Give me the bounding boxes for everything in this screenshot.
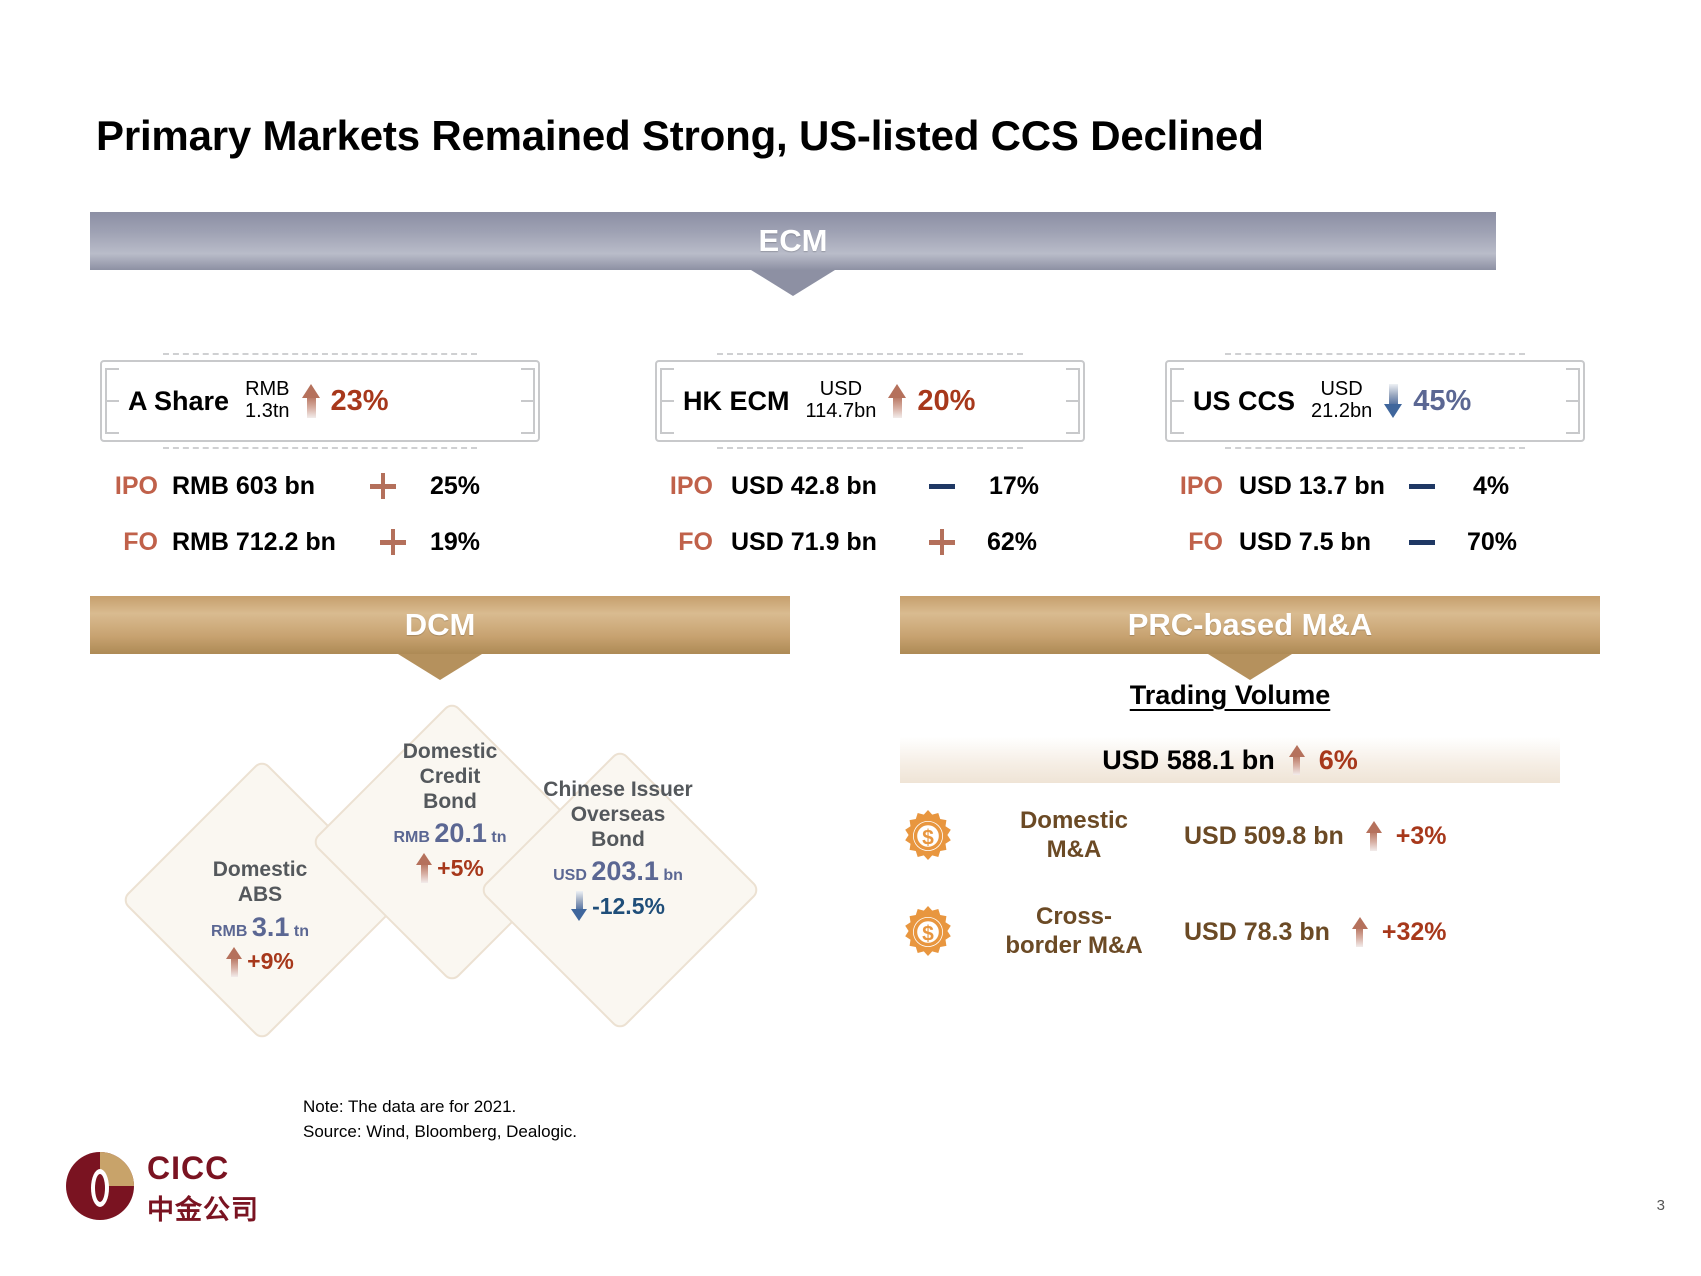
ecm-subrow-value: USD 42.8 bn — [731, 472, 927, 501]
ecm-card-delta: 45% — [1384, 384, 1471, 418]
mna-total-pct: 6% — [1319, 745, 1358, 776]
logo-name-latin: CICC — [147, 1150, 229, 1187]
arrow-down-icon — [1384, 384, 1403, 418]
mna-heading: Trading Volume — [900, 680, 1560, 711]
mna-total-value: USD 588.1 bn — [1102, 745, 1275, 776]
arrow-up-icon — [226, 947, 242, 977]
arrow-up-icon — [416, 853, 432, 883]
arrow-up-icon — [1352, 917, 1368, 947]
page-number: 3 — [1657, 1197, 1665, 1214]
ecm-card-name: HK ECM — [657, 386, 790, 417]
gear-dollar-icon: $ — [900, 808, 956, 864]
ecm-subrow-tag: FO — [655, 528, 713, 557]
card-corner-icon — [105, 368, 119, 402]
ecm-card-delta: 23% — [302, 384, 389, 418]
mna-row-delta: +32% — [1352, 917, 1447, 947]
footnote: Note: The data are for 2021. Source: Win… — [303, 1095, 577, 1144]
ecm-card-name: US CCS — [1167, 386, 1295, 417]
mna-row-pct: +3% — [1396, 822, 1447, 851]
ecm-subrow-pct: 17% — [989, 472, 1039, 501]
banner-notch-icon — [398, 654, 482, 680]
dcm-diamond-pct: +5% — [437, 855, 484, 882]
dcm-diamond-label: Chinese Issuer Overseas Bond — [513, 778, 723, 852]
ecm-card-pct: 45% — [1413, 385, 1471, 418]
ecm-card-name: A Share — [102, 386, 229, 417]
dcm-diamond-domestic-abs-text: Domestic ABS RMB 3.1 tn +9% — [155, 858, 365, 977]
dcm-diamond-delta: +9% — [155, 947, 365, 977]
mna-row-value: USD 509.8 bn — [1184, 822, 1344, 851]
ecm-card-a-share[interactable]: A Share RMB 1.3tn 23% — [100, 360, 540, 442]
dcm-diamond-pct: -12.5% — [592, 893, 665, 920]
card-corner-icon — [521, 368, 535, 402]
section-banner-dcm: DCM — [90, 596, 790, 654]
ecm-subrow-ipo: IPO RMB 603 bn 25% — [100, 458, 540, 514]
svg-text:$: $ — [922, 923, 934, 946]
footnote-source: Source: Wind, Bloomberg, Dealogic. — [303, 1120, 577, 1145]
mna-content: Trading Volume USD 588.1 bn 6% $ Domesti… — [900, 680, 1560, 1000]
ecm-card-delta: 20% — [888, 384, 975, 418]
cicc-logo-mark — [62, 1148, 138, 1224]
mna-row-cross-border[interactable]: $ Cross- border M&A USD 78.3 bn +32% — [900, 889, 1560, 975]
plus-icon — [368, 471, 398, 501]
card-corner-icon — [1170, 368, 1184, 402]
minus-icon — [1407, 527, 1437, 557]
ecm-card-us-ccs[interactable]: US CCS USD 21.2bn 45% — [1165, 360, 1585, 442]
ecm-subrow-pct: 70% — [1467, 528, 1517, 557]
card-corner-icon — [660, 400, 674, 434]
section-banner-prc-mna-label: PRC-based M&A — [1128, 607, 1373, 643]
dcm-diamond-pct: +9% — [247, 948, 294, 975]
arrow-down-icon — [571, 891, 587, 921]
ecm-subrow-fo: FO USD 7.5 bn 70% — [1165, 514, 1585, 570]
mna-row-label: Domestic M&A — [974, 807, 1174, 865]
ecm-card-amount: USD 114.7bn — [806, 379, 877, 422]
card-corner-icon — [1066, 368, 1080, 402]
mna-total-band: USD 588.1 bn 6% — [900, 737, 1560, 783]
banner-notch-icon — [751, 270, 835, 296]
ecm-subrow-tag: IPO — [1165, 472, 1223, 501]
ecm-subrow-pct: 62% — [987, 528, 1037, 557]
minus-icon — [927, 471, 957, 501]
ecm-subrow-value: USD 13.7 bn — [1239, 472, 1407, 501]
ecm-card-hk-ecm[interactable]: HK ECM USD 114.7bn 20% — [655, 360, 1085, 442]
ecm-subrow-ipo: IPO USD 42.8 bn 17% — [655, 458, 1085, 514]
ecm-subrow-value: RMB 712.2 bn — [172, 528, 378, 557]
arrow-up-icon — [1289, 745, 1305, 775]
ecm-subrow-value: USD 7.5 bn — [1239, 528, 1407, 557]
cicc-logo: CICC 中金公司 — [62, 1148, 272, 1228]
banner-notch-icon — [1208, 654, 1292, 680]
ecm-card-group-a-share: A Share RMB 1.3tn 23% IPO RMB 603 bn 25%… — [100, 360, 540, 570]
card-corner-icon — [521, 400, 535, 434]
ecm-subrow-tag: IPO — [655, 472, 713, 501]
dcm-diamond-delta: -12.5% — [513, 891, 723, 921]
card-corner-icon — [105, 400, 119, 434]
card-corner-icon — [1566, 368, 1580, 402]
ecm-card-group-hk-ecm: HK ECM USD 114.7bn 20% IPO USD 42.8 bn 1… — [655, 360, 1085, 570]
section-banner-ecm: ECM — [90, 212, 1496, 270]
ecm-card-amount: RMB 1.3tn — [245, 379, 289, 422]
dcm-diamond-amount: USD 203.1 bn — [513, 856, 723, 887]
dcm-diamond-chinese-issuer-overseas-bond-text: Chinese Issuer Overseas Bond USD 203.1 b… — [513, 778, 723, 921]
mna-row-domestic[interactable]: $ Domestic M&A USD 509.8 bn +3% — [900, 793, 1560, 879]
ecm-card-pct: 23% — [331, 385, 389, 418]
card-corner-icon — [660, 368, 674, 402]
arrow-up-icon — [888, 384, 907, 418]
dcm-diamond-group: Domestic ABS RMB 3.1 tn +9% Domestic Cre… — [130, 690, 770, 1000]
ecm-subrow-tag: FO — [1165, 528, 1223, 557]
mna-row-label: Cross- border M&A — [974, 903, 1174, 961]
dcm-diamond-amount: RMB 3.1 tn — [155, 912, 365, 943]
footnote-note: Note: The data are for 2021. — [303, 1095, 577, 1120]
ecm-subrow-ipo: IPO USD 13.7 bn 4% — [1165, 458, 1585, 514]
page-title: Primary Markets Remained Strong, US-list… — [96, 112, 1264, 160]
arrow-up-icon — [302, 384, 321, 418]
card-corner-icon — [1170, 400, 1184, 434]
section-banner-prc-mna: PRC-based M&A — [900, 596, 1600, 654]
ecm-subrow-value: RMB 603 bn — [172, 472, 368, 501]
arrow-up-icon — [1366, 821, 1382, 851]
ecm-subrow-fo: FO USD 71.9 bn 62% — [655, 514, 1085, 570]
ecm-subrow-tag: FO — [100, 528, 158, 557]
ecm-subrow-pct: 4% — [1473, 472, 1509, 501]
minus-icon — [1407, 471, 1437, 501]
ecm-card-group-us-ccs: US CCS USD 21.2bn 45% IPO USD 13.7 bn 4%… — [1165, 360, 1585, 570]
ecm-subrow-pct: 25% — [430, 472, 480, 501]
ecm-subrow-fo: FO RMB 712.2 bn 19% — [100, 514, 540, 570]
ecm-subrow-pct: 19% — [430, 528, 480, 557]
svg-text:$: $ — [922, 827, 934, 850]
card-corner-icon — [1566, 400, 1580, 434]
section-banner-dcm-label: DCM — [405, 607, 476, 643]
plus-icon — [378, 527, 408, 557]
section-banner-ecm-label: ECM — [759, 223, 828, 259]
plus-icon — [927, 527, 957, 557]
ecm-subrow-tag: IPO — [100, 472, 158, 501]
mna-row-delta: +3% — [1366, 821, 1447, 851]
mna-row-value: USD 78.3 bn — [1184, 918, 1330, 947]
logo-name-chinese: 中金公司 — [147, 1188, 259, 1227]
mna-row-pct: +32% — [1382, 918, 1447, 947]
ecm-card-amount: USD 21.2bn — [1311, 379, 1372, 422]
ecm-card-pct: 20% — [917, 385, 975, 418]
card-corner-icon — [1066, 400, 1080, 434]
gear-dollar-icon: $ — [900, 904, 956, 960]
ecm-subrow-value: USD 71.9 bn — [731, 528, 927, 557]
